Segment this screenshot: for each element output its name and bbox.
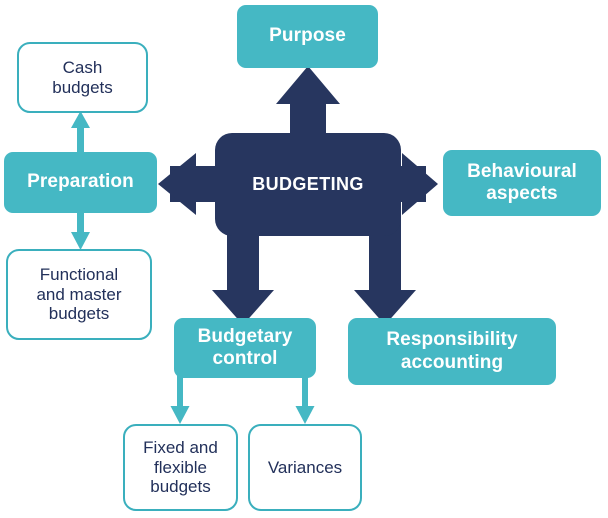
connector-budgetary-to-fixed-flexible-budgets [171, 370, 190, 424]
connector-budgetary-to-variances [296, 370, 315, 424]
node-behavioural-aspects-label: Behavioural aspects [467, 161, 577, 205]
center-node-label: BUDGETING [252, 174, 364, 195]
node-responsibility-accounting-label: Responsibility accounting [386, 329, 517, 373]
node-variances[interactable]: Variances [248, 424, 362, 511]
node-purpose[interactable]: Purpose [237, 5, 378, 68]
node-functional-and-master-budgets-label: Functional and master budgets [36, 265, 121, 324]
node-variances-label: Variances [268, 458, 342, 478]
node-preparation[interactable]: Preparation [4, 152, 157, 213]
center-node-budgeting[interactable]: BUDGETING [215, 133, 401, 236]
node-responsibility-accounting[interactable]: Responsibility accounting [348, 318, 556, 385]
diagram-canvas: BUDGETING Purpose Behavioural aspects Re… [0, 0, 608, 518]
connector-preparation-to-cash-budgets [71, 111, 90, 156]
node-purpose-label: Purpose [269, 25, 346, 47]
node-behavioural-aspects[interactable]: Behavioural aspects [443, 150, 601, 216]
node-fixed-and-flexible-budgets[interactable]: Fixed and flexible budgets [123, 424, 238, 511]
node-budgetary-control[interactable]: Budgetary control [174, 318, 316, 378]
connector-preparation-to-functional-budgets [71, 208, 90, 250]
node-cash-budgets[interactable]: Cash budgets [17, 42, 148, 113]
node-budgetary-control-label: Budgetary control [198, 326, 293, 370]
node-functional-and-master-budgets[interactable]: Functional and master budgets [6, 249, 152, 340]
node-cash-budgets-label: Cash budgets [52, 58, 113, 97]
node-fixed-and-flexible-budgets-label: Fixed and flexible budgets [143, 438, 218, 497]
node-preparation-label: Preparation [27, 171, 134, 193]
